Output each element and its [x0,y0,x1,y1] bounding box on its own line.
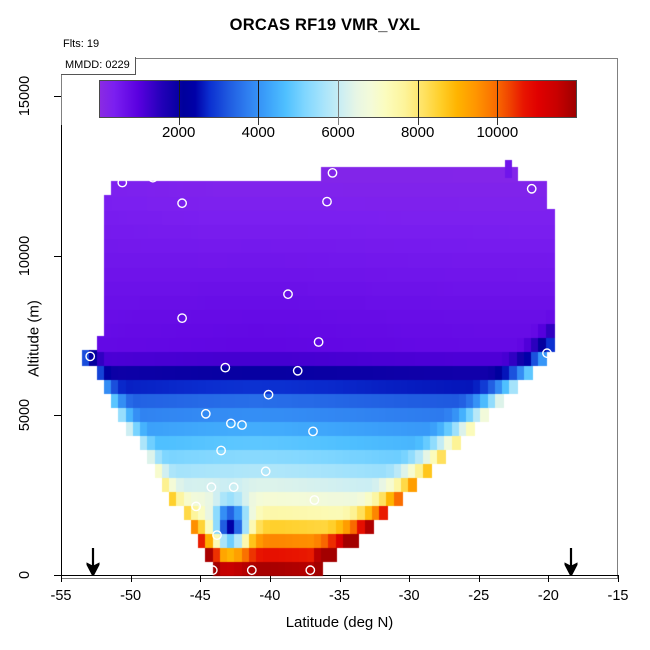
y-axis-tick [54,575,61,576]
mmdd-date-box: MMDD: 0229 [61,57,136,75]
colorbar-tick-label: 10000 [476,124,518,141]
colorbar-tick-mark [497,80,498,118]
x-axis-tick [618,575,619,582]
x-axis-tick-label: -45 [190,588,211,604]
page-title: ORCAS RF19 VMR_VXL [0,16,650,35]
x-axis-tick-label: -55 [51,588,72,604]
y-axis-tick-label: 0 [17,550,33,600]
y-axis-tick [54,96,61,97]
colorbar-tick-mark [338,80,339,118]
x-axis-tick-label: -50 [120,588,141,604]
y-axis-title: Altitude (m) [26,209,43,469]
x-axis-title: Latitude (deg N) [61,614,618,631]
colorbar-tick-label: 4000 [242,124,275,141]
y-axis-tick [54,256,61,257]
colorbar-tick-mark [179,80,180,118]
x-axis-tick-label: -15 [608,588,629,604]
colorbar-tick-label: 2000 [162,124,195,141]
y-axis-tick [54,415,61,416]
y-axis-tick-label: 15000 [17,71,33,121]
colorbar-tick-mark [418,80,419,118]
x-axis-tick-label: -30 [399,588,420,604]
plot-root: ORCAS RF19 VMR_VXL Flts: 19 MMDD: 0229 2… [0,0,650,650]
x-axis-tick-label: -25 [468,588,489,604]
colorbar-tick-label: 8000 [401,124,434,141]
colorbar-tick-mark [258,80,259,118]
flights-count-label: Flts: 19 [63,38,99,50]
x-axis-tick-label: -40 [259,588,280,604]
x-axis-tick-label: -35 [329,588,350,604]
x-axis-tick-label: -20 [538,588,559,604]
colorbar: 200040006000800010000 [99,80,577,118]
colorbar-tick-label: 6000 [321,124,354,141]
